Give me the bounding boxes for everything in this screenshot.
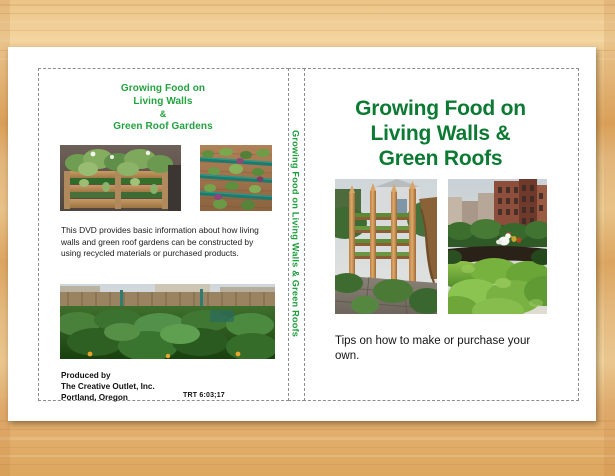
rooftop-vegetable-bed-photo <box>60 284 275 359</box>
credits-line-3: Portland, Oregon <box>61 392 273 403</box>
back-cover-panel: Growing Food on Living Walls & Green Roo… <box>38 68 288 399</box>
back-cover-description: This DVD provides basic information abou… <box>61 225 273 260</box>
front-cover-tagline: Tips on how to make or purchase your own… <box>335 334 555 364</box>
front-title-line-2: Living Walls & <box>303 121 578 146</box>
front-cover-title: Growing Food on Living Walls & Green Roo… <box>303 96 578 171</box>
spine-panel: Growing Food on Living Walls & Green Roo… <box>288 68 303 399</box>
brick-wall-gutter-garden-photo <box>200 145 272 211</box>
back-cover-title: Growing Food on Living Walls & Green Roo… <box>38 83 288 133</box>
back-title-line-1: Growing Food on <box>38 83 288 96</box>
urban-rooftop-garden-photo <box>448 179 547 314</box>
spine-title-text: Growing Food on Living Walls & Green Roo… <box>291 130 301 337</box>
pallet-vertical-garden-photo <box>60 145 181 211</box>
spine-title: Growing Food on Living Walls & Green Roo… <box>288 68 303 399</box>
back-cover-credits: Produced by The Creative Outlet, Inc. Po… <box>61 370 273 403</box>
credits-line-2: The Creative Outlet, Inc. <box>61 381 273 392</box>
credits-line-1: Produced by <box>61 370 273 381</box>
front-title-line-1: Growing Food on <box>303 96 578 121</box>
back-cover-photo-row <box>60 145 272 211</box>
back-title-line-2: Living Walls <box>38 96 288 109</box>
runtime-label: TRT 6:03;17 <box>183 392 225 399</box>
front-cover-panel: Growing Food on Living Walls & Green Roo… <box>303 68 578 399</box>
cover-artwork-sheet: Growing Food on Living Walls & Green Roo… <box>8 47 596 421</box>
back-title-line-4: Green Roof Gardens <box>38 121 288 134</box>
front-cover-photo-row <box>335 179 547 314</box>
back-title-line-3: & <box>38 108 288 121</box>
front-title-line-3: Green Roofs <box>303 146 578 171</box>
trellis-vertical-garden-photo <box>335 179 437 314</box>
